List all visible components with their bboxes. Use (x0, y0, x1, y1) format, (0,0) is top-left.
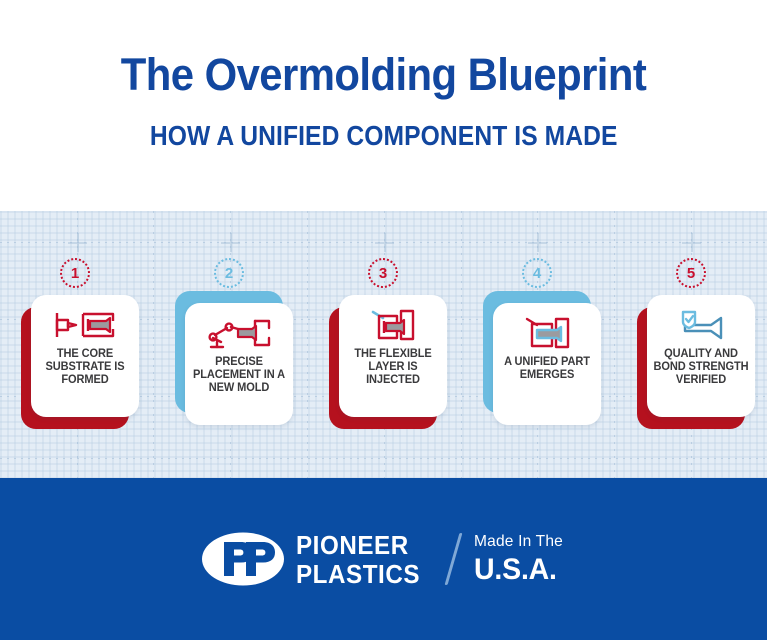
step-number-badge-4: 4 (522, 258, 552, 288)
unified-part-mold-icon (524, 317, 570, 349)
step-label-5: QUALITY AND BOND STRENGTH VERIFIED (649, 348, 753, 387)
step-label-3: THE FLEXIBLE LAYER IS INJECTED (341, 348, 445, 387)
step-label-4: A UNIFIED PART EMERGES (495, 356, 599, 382)
step-number-badge-3: 3 (368, 258, 398, 288)
made-in-the-text: Made In The (474, 534, 563, 550)
step-number-badge-5: 5 (676, 258, 706, 288)
step-card-4[interactable]: 4 A UNIFIED PART EMER (483, 211, 591, 478)
header: The Overmolding Blueprint HOW A UNIFIED … (0, 0, 767, 211)
shield-check-quality-icon (677, 309, 725, 341)
step-card-1[interactable]: 1 (21, 211, 129, 478)
page-subtitle: HOW A UNIFIED COMPONENT IS MADE (150, 121, 618, 151)
process-steps: 1 (0, 211, 767, 478)
step-card-3[interactable]: 3 TH (329, 211, 437, 478)
made-in-usa: Made In The U.S.A. (474, 534, 566, 585)
step-number-badge-1: 1 (60, 258, 90, 288)
infographic-root: The Overmolding Blueprint HOW A UNIFIED … (0, 0, 767, 640)
card-body[interactable]: THE FLEXIBLE LAYER IS INJECTED (339, 295, 447, 417)
brand-name: PIONEER PLASTICS (296, 532, 429, 587)
card-body[interactable]: PRECISE PLACEMENT IN A NEW MOLD (185, 303, 293, 425)
card-body[interactable]: QUALITY AND BOND STRENGTH VERIFIED (647, 295, 755, 417)
brand-line-1: PIONEER (296, 532, 420, 558)
usa-text: U.S.A. (474, 555, 561, 585)
robot-arm-placement-icon (207, 317, 271, 349)
step-label-1: THE CORE SUBSTRATE IS FORMED (33, 348, 137, 387)
step-label-2: PRECISE PLACEMENT IN A NEW MOLD (187, 356, 291, 395)
step-number-badge-2: 2 (214, 258, 244, 288)
divider-slash (444, 533, 461, 585)
card-body[interactable]: THE CORE SUBSTRATE IS FORMED (31, 295, 139, 417)
footer: PIONEER PLASTICS Made In The U.S.A. (0, 478, 767, 640)
step-card-5[interactable]: 5 QUALITY AND BOND STRENGTH VERIFIED (637, 211, 745, 478)
overmold-injection-icon (371, 309, 415, 341)
step-card-2[interactable]: 2 (175, 211, 283, 478)
pioneer-plastics-pp-oval-logo (201, 531, 285, 587)
page-title: The Overmolding Blueprint (121, 52, 646, 98)
brand-line-2: PLASTICS (296, 561, 420, 587)
blueprint-band: 1 (0, 211, 767, 478)
card-body[interactable]: A UNIFIED PART EMERGES (493, 303, 601, 425)
injection-mold-icon (54, 309, 116, 341)
